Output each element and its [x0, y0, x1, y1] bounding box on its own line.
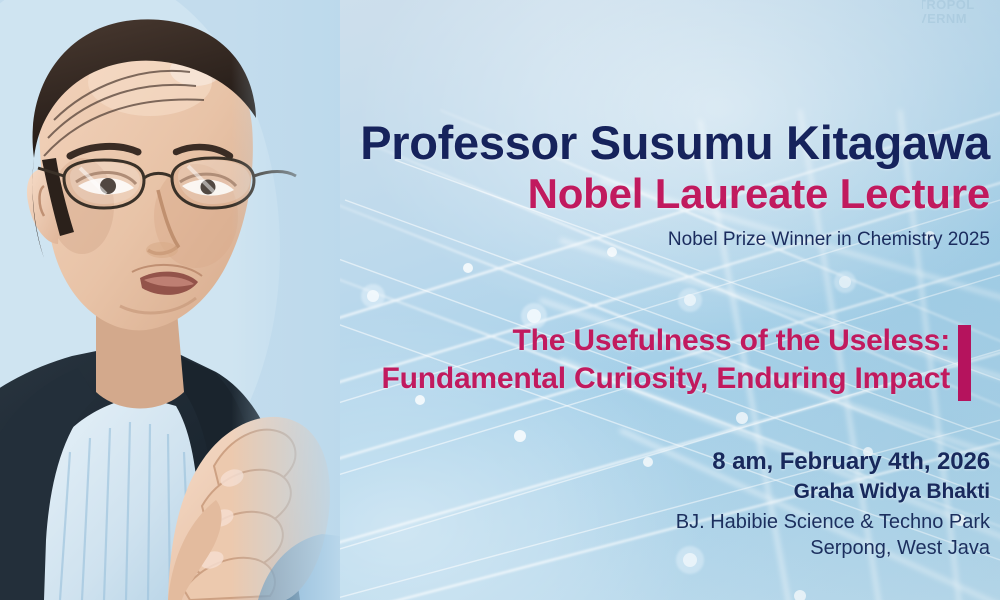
headline-block: Professor Susumu Kitagawa Nobel Laureate… [300, 118, 990, 251]
lecture-topic-title: The Usefulness of the Useless: Fundament… [240, 322, 950, 399]
lecture-announcement-banner: TROPOL VERNM Portrait [0, 0, 1000, 600]
event-date-time: 8 am, February 4th, 2026 [430, 448, 990, 476]
organization-watermark: TROPOL VERNM [922, 0, 1000, 38]
event-venue: Graha Widya Bhakti [430, 478, 990, 505]
speaker-name: Professor Susumu Kitagawa [300, 118, 990, 168]
accent-bar [958, 325, 971, 401]
lecture-series-title: Nobel Laureate Lecture [300, 170, 990, 217]
event-address-line-2: Serpong, West Java [430, 535, 990, 562]
lecture-topic-line-1: The Usefulness of the Useless: [240, 322, 950, 360]
prize-subtitle: Nobel Prize Winner in Chemistry 2025 [300, 229, 990, 251]
event-details-block: 8 am, February 4th, 2026 Graha Widya Bha… [430, 448, 990, 562]
watermark-line-1: TROPOL [922, 0, 1000, 12]
watermark-line-2: VERNM [922, 12, 1000, 26]
event-address-line-1: BJ. Habibie Science & Techno Park [430, 509, 990, 536]
lecture-topic-line-2: Fundamental Curiosity, Enduring Impact [240, 360, 950, 398]
speaker-portrait: Portrait [0, 0, 340, 600]
